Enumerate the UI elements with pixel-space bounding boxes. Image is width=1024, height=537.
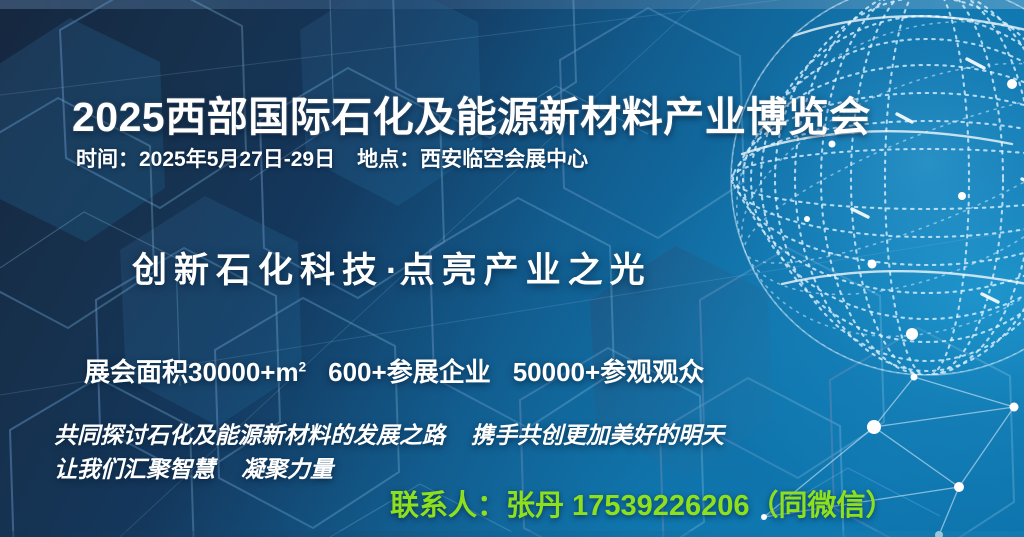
slogan: 创新石化科技·点亮产业之光 [132, 242, 652, 293]
statistics-line: 展会面积30000+m2600+参展企业50000+参观观众 [84, 352, 704, 389]
date-value: 2025年5月27日-29日 [139, 148, 335, 171]
tagline-1b: 携手共创更加美好的明天 [471, 422, 724, 448]
tagline-2b: 凝聚力量 [241, 456, 333, 482]
tagline-second-row: 让我们汇聚智慧凝聚力量 [54, 450, 333, 484]
tagline-first-row: 共同探讨石化及能源新材料的发展之路携手共创更加美好的明天 [54, 416, 724, 450]
date-label: 时间： [76, 148, 139, 171]
venue-label: 地点： [357, 148, 420, 171]
event-meta-line: 时间：2025年5月27日-29日地点：西安临空会展中心 [76, 143, 588, 173]
stat-exhibitors: 600+参展企业 [328, 352, 491, 389]
banner-content: 2025西部国际石化及能源新材料产业博览会 时间：2025年5月27日-29日地… [0, 0, 1024, 537]
tagline-1a: 共同探讨石化及能源新材料的发展之路 [54, 422, 445, 448]
slogan-left: 创新石化科技 [132, 251, 384, 290]
venue-value: 西安临空会展中心 [420, 148, 588, 171]
stat-visitors: 50000+参观观众 [513, 352, 704, 389]
slogan-right: 点亮产业之光 [400, 251, 652, 290]
exhibition-banner: 2025西部国际石化及能源新材料产业博览会 时间：2025年5月27日-29日地… [0, 0, 1024, 537]
slogan-separator-dot: · [384, 251, 400, 290]
stat-exhibition-area: 展会面积30000+m2 [84, 352, 306, 389]
tagline-2a: 让我们汇聚智慧 [54, 456, 215, 482]
square-meter-superscript: 2 [299, 359, 307, 374]
page-title: 2025西部国际石化及能源新材料产业博览会 [72, 83, 871, 143]
contact-info[interactable]: 联系人：张丹 17539226206（同微信） [390, 482, 894, 524]
